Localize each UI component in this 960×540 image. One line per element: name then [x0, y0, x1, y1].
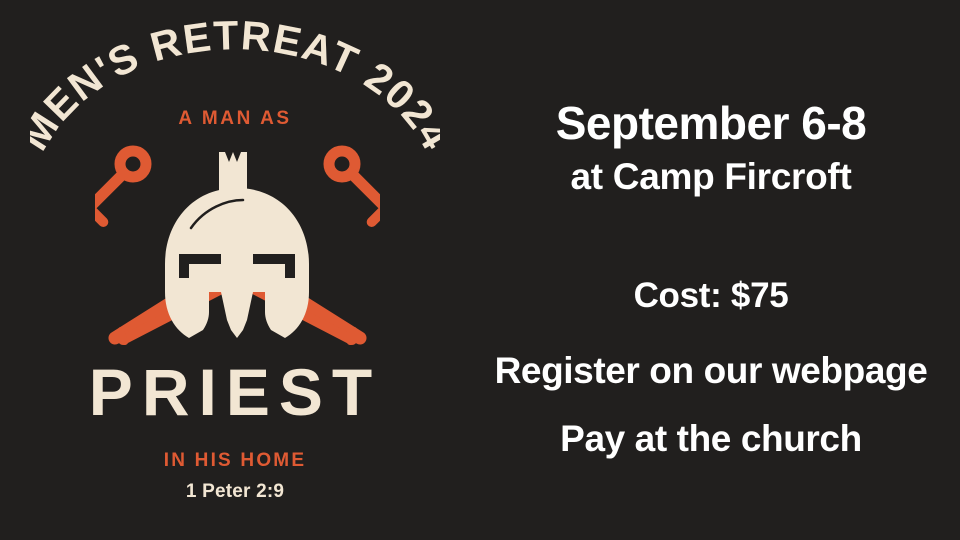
retreat-emblem: MEN'S RETREAT 2024 A MAN AS — [0, 0, 470, 540]
wordmark-priest: PRIEST — [0, 359, 470, 425]
event-cost: Cost: $75 — [462, 276, 960, 316]
register-notice: Register on our webpage — [462, 350, 960, 392]
event-venue: at Camp Fircroft — [462, 156, 960, 198]
tagline-top: A MAN AS — [0, 108, 470, 130]
event-dates: September 6-8 — [462, 96, 960, 150]
payment-notice: Pay at the church — [462, 418, 960, 460]
retreat-promo-slide: MEN'S RETREAT 2024 A MAN AS — [0, 0, 960, 540]
tagline-bottom: IN HIS HOME — [0, 450, 470, 472]
helmet-and-keys-mark — [95, 142, 380, 367]
scripture-reference: 1 Peter 2:9 — [0, 481, 470, 503]
spartan-helmet-icon — [165, 188, 309, 338]
event-details: September 6-8 at Camp Fircroft Cost: $75… — [462, 0, 960, 540]
arched-title-text: MEN'S RETREAT 2024 — [30, 14, 440, 158]
helmet-and-keys-svg — [95, 142, 380, 367]
arched-title-textpath: MEN'S RETREAT 2024 — [30, 14, 440, 158]
